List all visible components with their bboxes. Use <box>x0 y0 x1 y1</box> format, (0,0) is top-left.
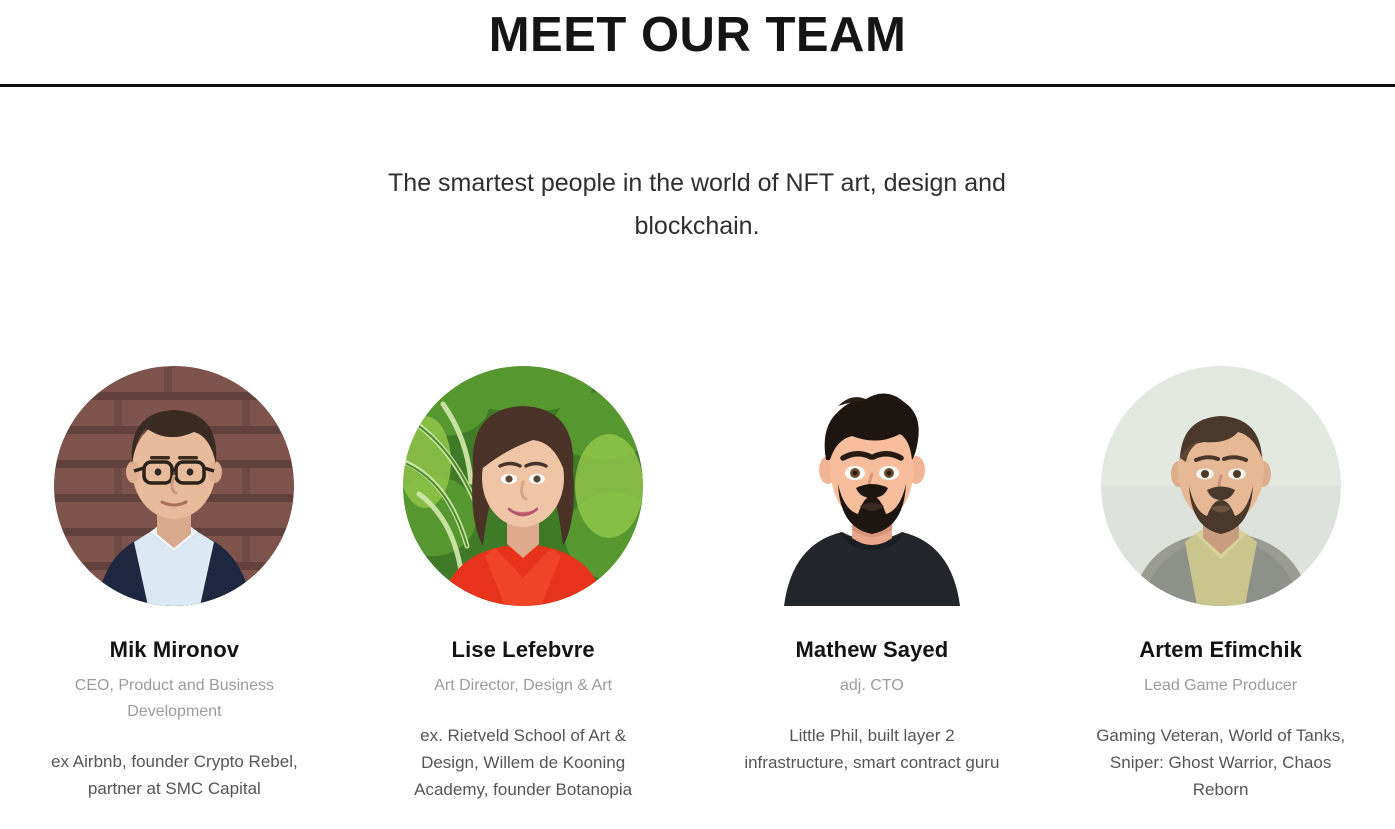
avatar <box>752 366 992 606</box>
team-grid: Mik Mironov CEO, Product and Business De… <box>0 366 1395 803</box>
team-member-card[interactable]: Artem Efimchik Lead Game Producer Gaming… <box>1046 366 1395 803</box>
member-role: Lead Game Producer <box>1144 673 1297 699</box>
header-divider <box>0 84 1395 87</box>
team-member-card[interactable]: Lise Lefebvre Art Director, Design & Art… <box>349 366 698 803</box>
page-title: MEET OUR TEAM <box>0 4 1395 66</box>
member-name: Artem Efimchik <box>1139 636 1302 664</box>
page-subtitle: The smartest people in the world of NFT … <box>347 162 1047 248</box>
team-member-card[interactable]: Mathew Sayed adj. CTO Little Phil, built… <box>698 366 1047 776</box>
member-bio: ex Airbnb, founder Crypto Rebel, partner… <box>40 748 308 802</box>
member-bio: Little Phil, built layer 2 infrastructur… <box>738 722 1006 776</box>
team-member-card[interactable]: Mik Mironov CEO, Product and Business De… <box>0 366 349 802</box>
member-role: Art Director, Design & Art <box>434 673 612 699</box>
member-name: Mik Mironov <box>110 636 239 664</box>
member-role: CEO, Product and Business Development <box>39 673 309 725</box>
avatar <box>54 366 294 606</box>
member-role: adj. CTO <box>840 673 904 699</box>
member-bio: Gaming Veteran, World of Tanks, Sniper: … <box>1087 722 1355 803</box>
avatar <box>1101 366 1341 606</box>
avatar <box>403 366 643 606</box>
member-bio: ex. Rietveld School of Art & Design, Wil… <box>389 722 657 803</box>
member-name: Lise Lefebvre <box>452 636 595 664</box>
member-name: Mathew Sayed <box>795 636 948 664</box>
team-page: MEET OUR TEAM The smartest people in the… <box>0 0 1395 829</box>
